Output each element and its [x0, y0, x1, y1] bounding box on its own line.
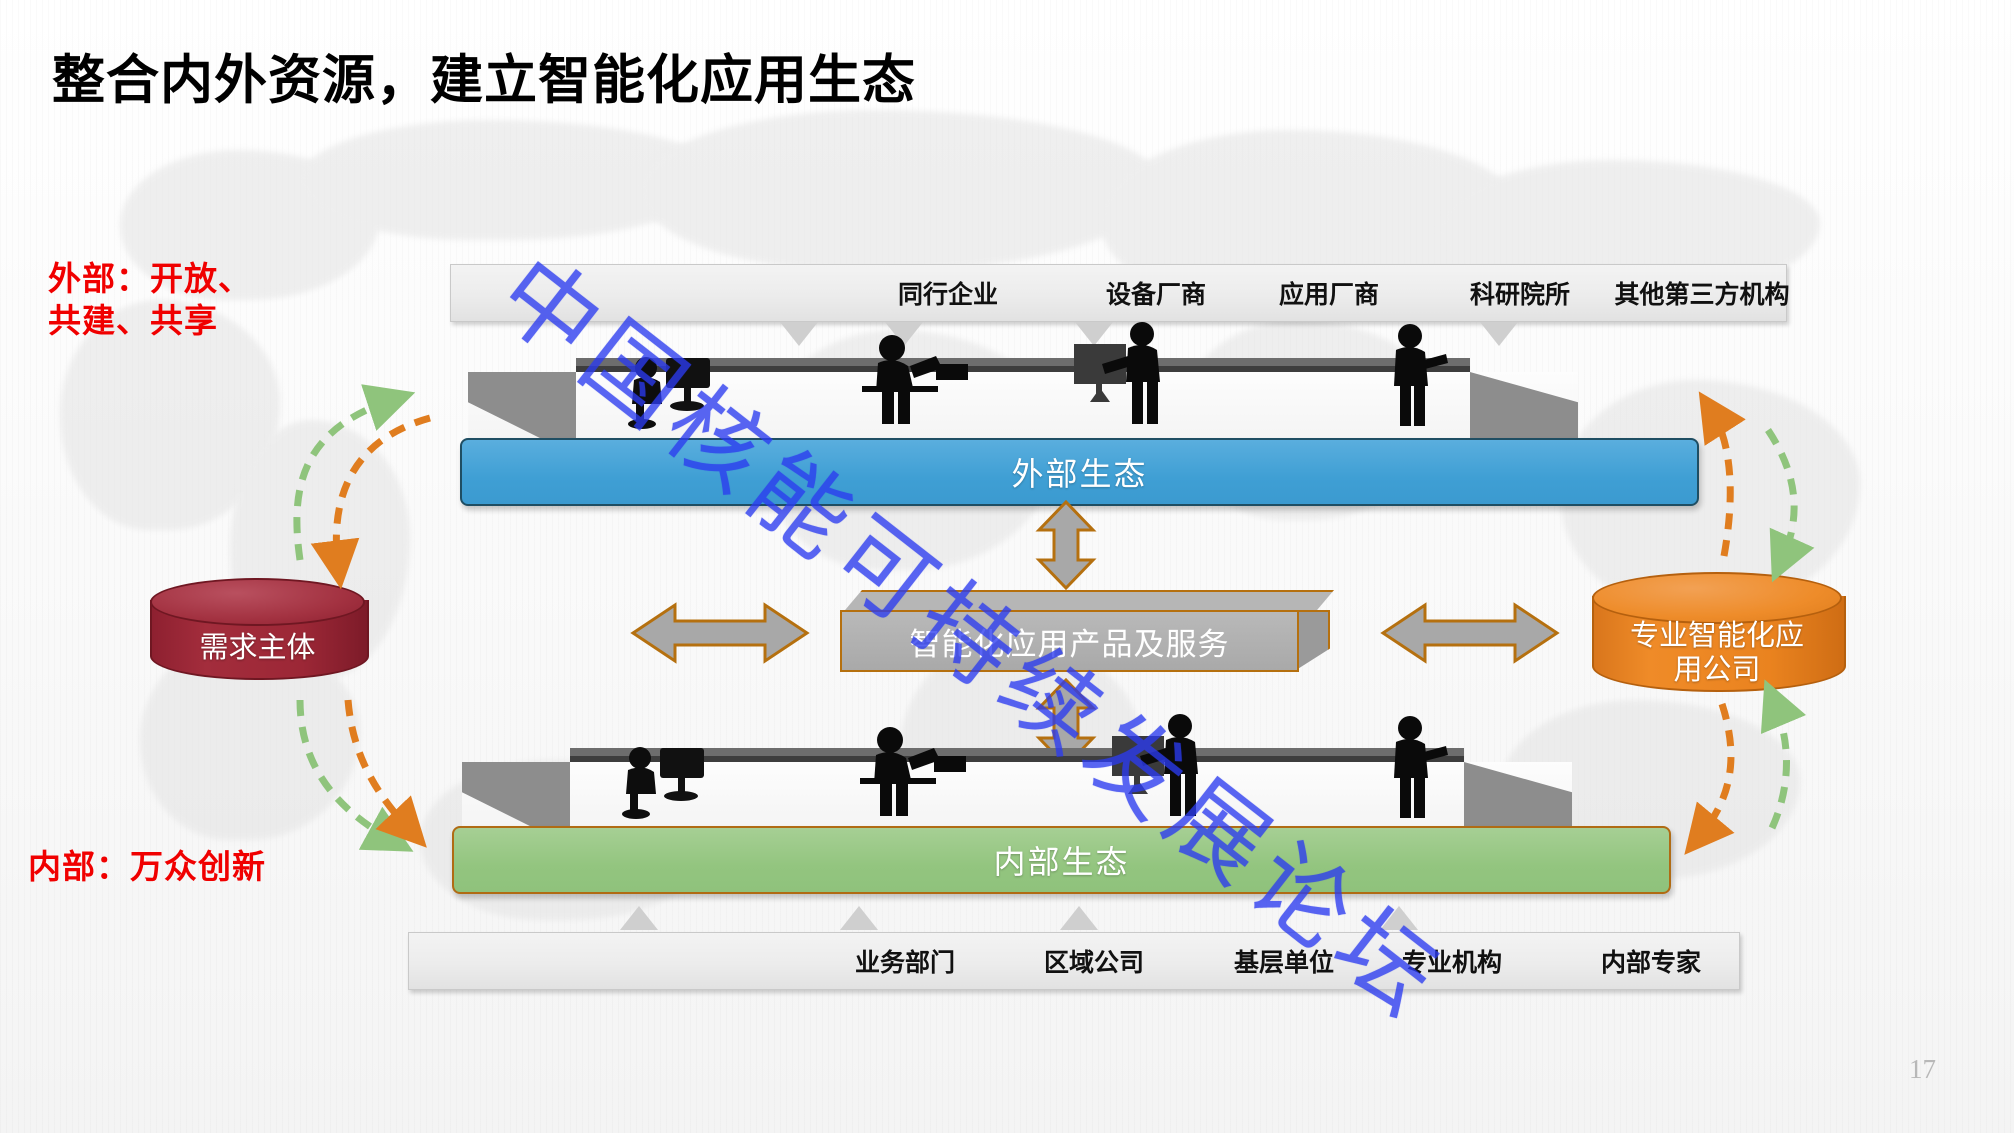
connector-triangle-up-2 — [840, 906, 878, 930]
person-silhouette-board-1 — [1070, 318, 1180, 430]
internal-label-1: 区域公司 — [1044, 943, 1144, 979]
dashed-orange-arrow-right-down — [1700, 704, 1731, 836]
dashed-green-arrow-left-down — [300, 700, 392, 840]
dashed-green-arrow-right-up — [1772, 702, 1787, 828]
person-silhouette-desk-2 — [612, 742, 722, 820]
internal-label-0: 业务部门 — [855, 943, 955, 979]
dashed-orange-arrow-right-up — [1712, 412, 1730, 556]
page-title: 整合内外资源，建立智能化应用生态 — [52, 38, 916, 114]
dashed-orange-arrow-left-up — [348, 700, 410, 830]
external-label-1: 设备厂商 — [1106, 275, 1206, 311]
person-silhouette-tablet-1 — [1380, 320, 1450, 430]
external-caption: 外部：开放、 共建、共享 — [48, 258, 252, 342]
external-label-2: 应用厂商 — [1279, 275, 1379, 311]
internal-caption: 内部：万众创新 — [28, 846, 266, 888]
internal-unit-strip: 业务部门 区域公司 基层单位 专业机构 内部专家 — [408, 932, 1740, 990]
horizontal-double-arrow-right — [1380, 600, 1560, 666]
horizontal-double-arrow-left — [630, 600, 810, 666]
page-number: 17 — [1909, 1054, 1936, 1085]
external-label-3: 科研院所 — [1470, 275, 1570, 311]
demand-entity-cylinder[interactable]: 需求主体 — [150, 578, 365, 678]
demand-entity-label: 需求主体 — [150, 630, 365, 664]
dashed-green-arrow-left-up — [297, 400, 392, 560]
dashed-orange-arrow-left-down — [336, 418, 430, 565]
professional-company-cylinder[interactable]: 专业智能化应 用公司 — [1592, 572, 1842, 690]
internal-ecosystem-bar[interactable]: 内部生态 — [452, 826, 1671, 894]
dashed-green-arrow-right-down — [1768, 430, 1794, 560]
cylinder-top-right — [1592, 572, 1842, 624]
external-label-4: 其他第三方机构 — [1614, 275, 1789, 311]
person-silhouette-tablet-2 — [1380, 712, 1450, 822]
connector-triangle-up-1 — [620, 906, 658, 930]
internal-label-4: 内部专家 — [1601, 943, 1701, 979]
cylinder-top-left — [150, 578, 365, 626]
slide-canvas: 整合内外资源，建立智能化应用生态 外部：开放、 共建、共享 内部：万众创新 同行… — [0, 0, 2014, 1133]
vertical-double-arrow-top — [1035, 500, 1097, 590]
person-silhouette-laptop-2 — [848, 722, 973, 822]
person-silhouette-laptop-1 — [850, 330, 975, 430]
connector-triangle-up-3 — [1060, 906, 1098, 930]
external-label-0: 同行企业 — [898, 275, 998, 311]
professional-company-label: 专业智能化应 用公司 — [1592, 618, 1842, 686]
